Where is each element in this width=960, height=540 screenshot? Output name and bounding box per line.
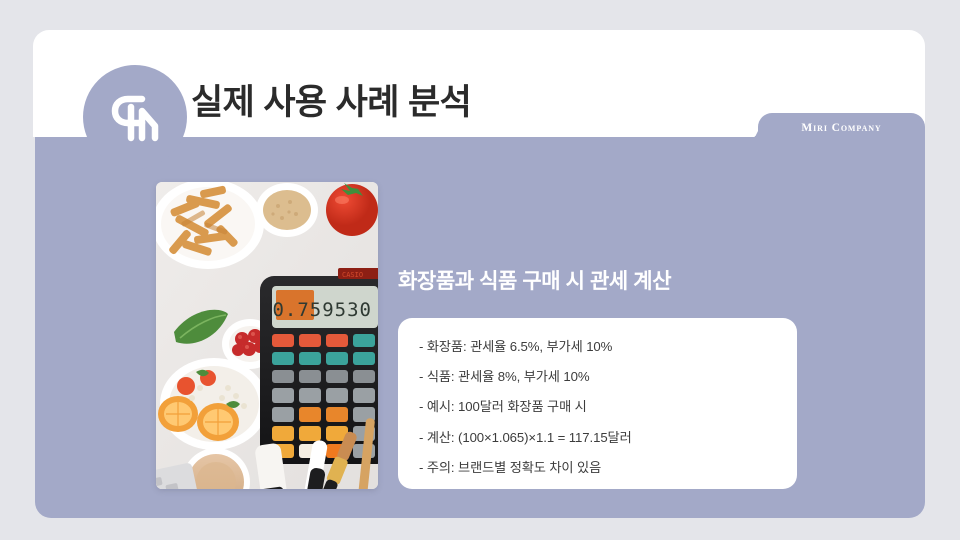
page-title: 실제 사용 사례 분석 bbox=[191, 74, 471, 125]
list-item: - 예시: 100달러 화장품 구매 시 bbox=[419, 400, 797, 413]
svg-text:CASIO: CASIO bbox=[342, 271, 363, 279]
list-item: - 식품: 관세율 8%, 부가세 10% bbox=[419, 370, 797, 383]
list-item: - 계산: (100×1.065)×1.1 = 117.15달러 bbox=[419, 431, 797, 444]
slide: Miri Company 실제 사용 사례 분석 bbox=[0, 0, 960, 540]
details-card: - 화장품: 관세율 6.5%, 부가세 10% - 식품: 관세율 8%, 부… bbox=[398, 318, 797, 489]
svg-text:0.759530: 0.759530 bbox=[272, 299, 372, 321]
list-item: - 주의: 브랜드별 정확도 차이 있음 bbox=[419, 461, 797, 474]
fn-monogram-logo-icon bbox=[83, 65, 187, 169]
list-item: - 화장품: 관세율 6.5%, 부가세 10% bbox=[419, 340, 797, 353]
section-subtitle: 화장품과 식품 구매 시 관세 계산 bbox=[398, 265, 671, 295]
brand-label: Miri Company bbox=[801, 122, 881, 134]
brand-tab: Miri Company bbox=[758, 113, 925, 143]
flatlay-photo: 0.759530 CASIO bbox=[156, 182, 378, 489]
